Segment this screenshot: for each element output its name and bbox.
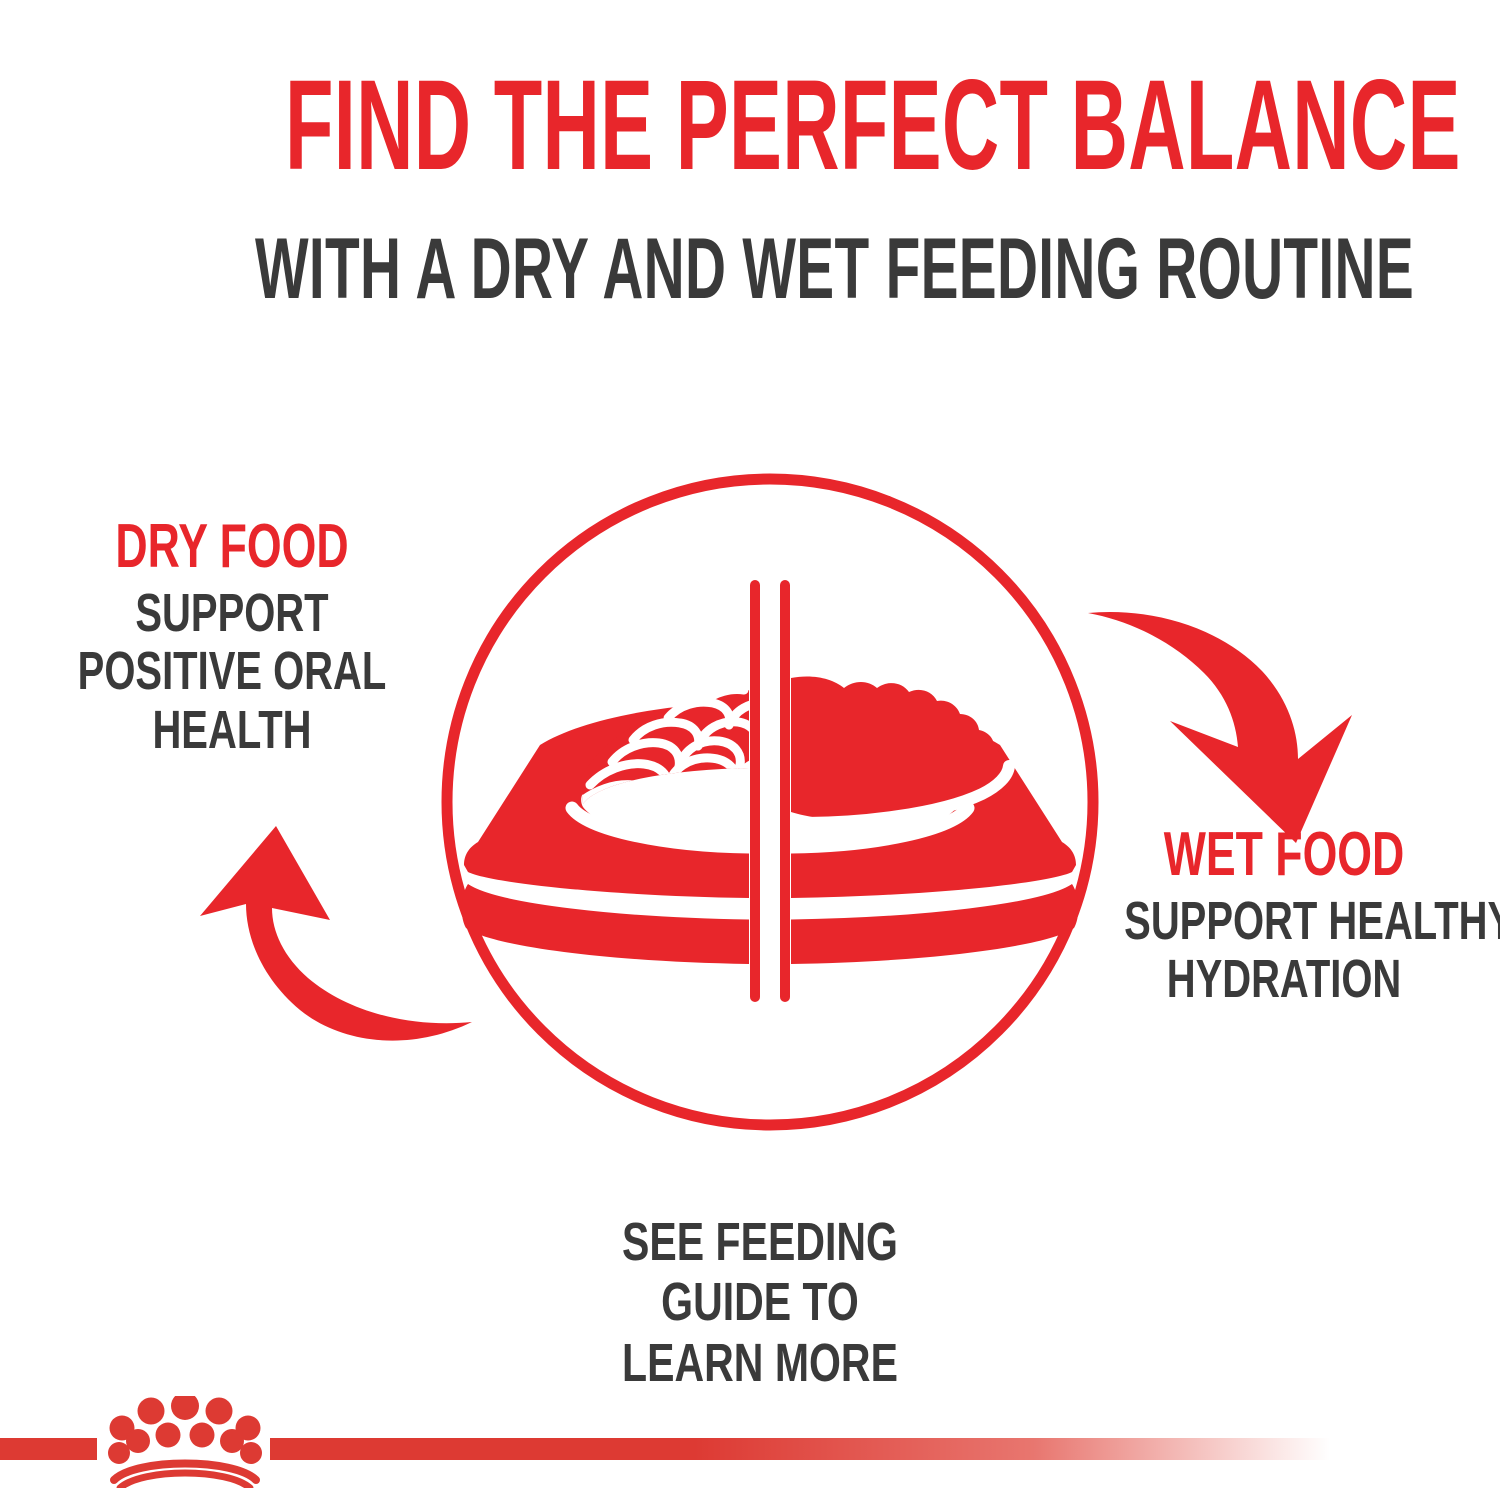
- wet-food-line-1: SUPPORT HEALTHY: [1124, 892, 1444, 950]
- wet-food-line-2: HYDRATION: [1124, 950, 1444, 1008]
- divider-line-right: [780, 580, 790, 1002]
- curved-arrow-down-right-icon: [1080, 595, 1380, 865]
- wet-side-group: [791, 676, 1078, 964]
- page-subtitle: WITH A DRY AND WET FEEDING ROUTINE: [255, 226, 1245, 312]
- caption-line-2: GUIDE TO: [562, 1272, 957, 1332]
- poster-root: FIND THE PERFECT BALANCE WITH A DRY AND …: [0, 0, 1500, 1500]
- footer-rule-left: [0, 1438, 97, 1460]
- dry-food-line-1: SUPPORT: [77, 584, 388, 642]
- headline-block: FIND THE PERFECT BALANCE WITH A DRY AND …: [0, 62, 1500, 312]
- dry-food-block: DRY FOOD SUPPORT POSITIVE ORAL HEALTH: [22, 516, 442, 759]
- caption-line-1: SEE FEEDING: [562, 1212, 957, 1272]
- dry-food-heading: DRY FOOD: [81, 516, 383, 578]
- see-feeding-guide-caption: SEE FEEDING GUIDE TO LEARN MORE: [500, 1212, 1020, 1393]
- dry-food-line-2: POSITIVE ORAL: [77, 642, 388, 700]
- caption-line-3: LEARN MORE: [562, 1333, 957, 1393]
- page-title: FIND THE PERFECT BALANCE: [285, 62, 1215, 190]
- footer-rule-right: [270, 1438, 1330, 1460]
- curved-arrow-up-left-icon: [180, 790, 480, 1060]
- dry-food-line-3: HEALTH: [77, 701, 388, 759]
- split-pet-bowl-icon: [420, 452, 1120, 1152]
- dry-side-group: [462, 689, 764, 964]
- divider-line-left: [750, 580, 760, 1002]
- royal-canin-crown-logo-icon: [100, 1396, 270, 1488]
